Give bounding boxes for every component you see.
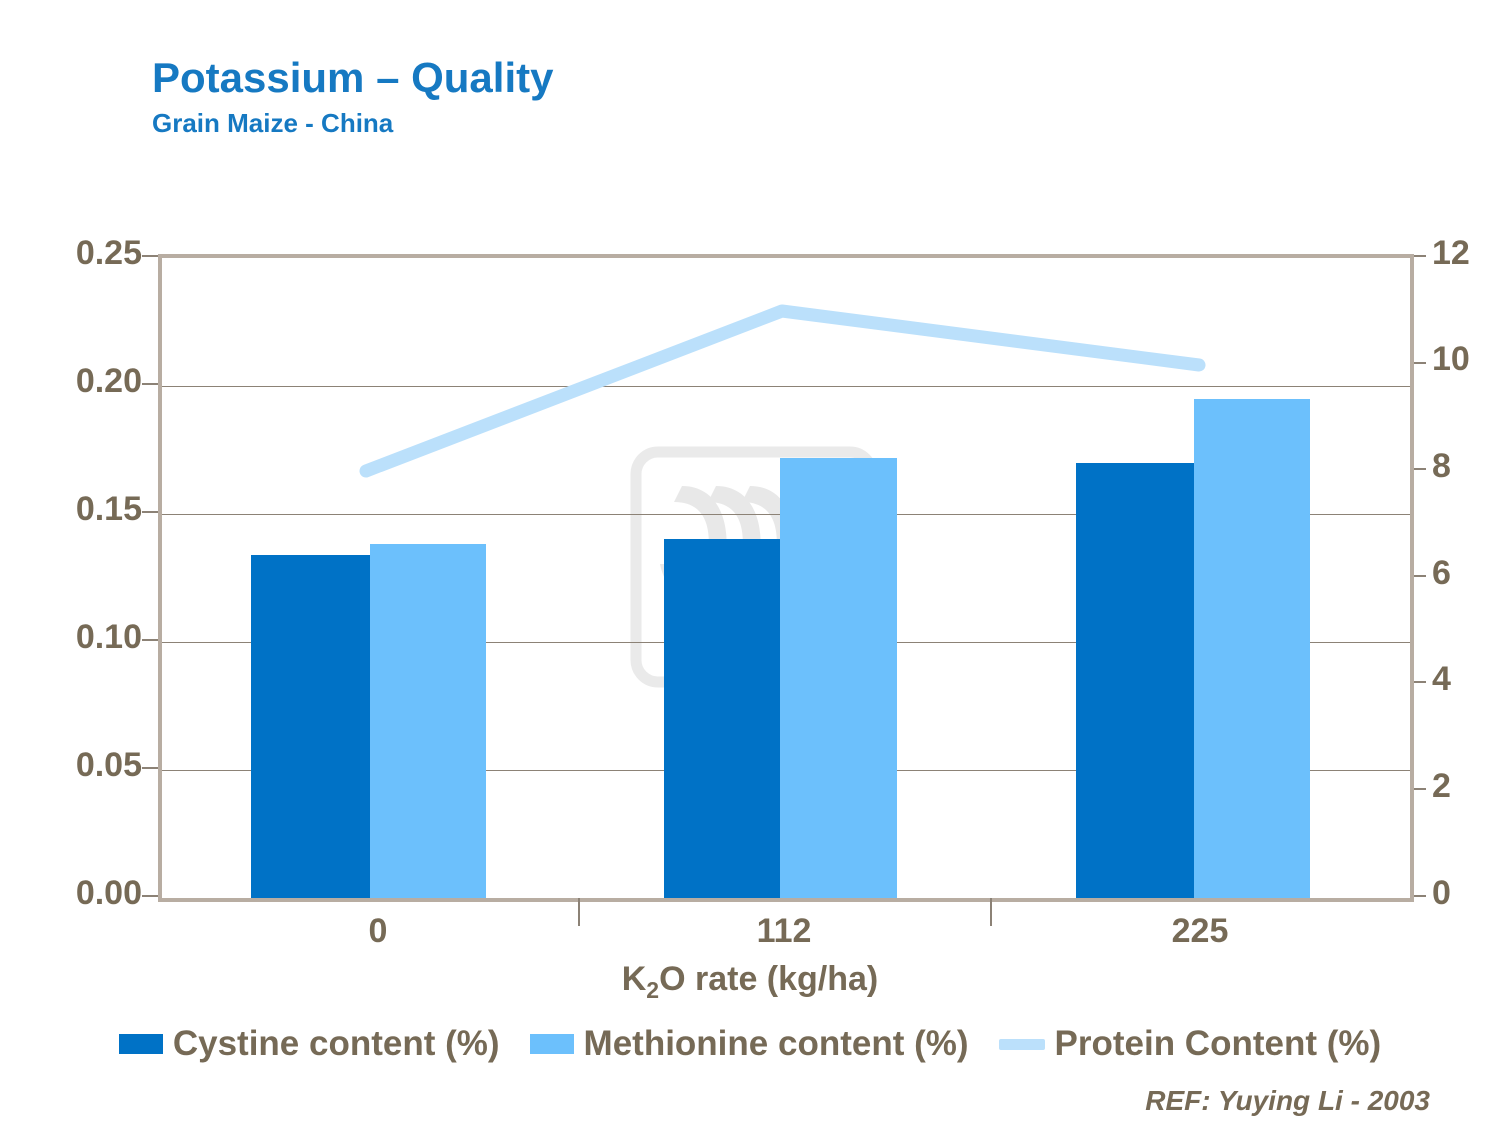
legend-label-methionine: Methionine content (%) [584, 1024, 969, 1064]
x-axis-tick-2: 225 [1110, 912, 1290, 951]
x-axis-title-pre: K [622, 960, 647, 998]
x-axis-tick-0: 0 [288, 912, 468, 951]
legend-swatch-icon [530, 1034, 574, 1054]
y-axis-left-tickmark [142, 639, 158, 641]
y-axis-left-tick-0: 0.25 [76, 234, 142, 273]
plot-area: YARA [158, 254, 1414, 902]
x-axis-category-separator [578, 898, 580, 926]
legend-item-cystine[interactable]: Cystine content (%) [119, 1024, 500, 1064]
y-axis-left-tick-5: 0.00 [76, 874, 142, 913]
legend-line-icon [999, 1039, 1045, 1050]
protein-content-line-series [162, 258, 1410, 898]
y-axis-left-tickmark [142, 255, 158, 257]
legend-label-cystine: Cystine content (%) [173, 1024, 500, 1064]
chart-canvas: 0.25 0.20 0.15 0.10 0.05 0.00 12 10 8 6 … [0, 0, 1500, 1126]
legend-label-protein: Protein Content (%) [1055, 1024, 1382, 1064]
legend-item-protein[interactable]: Protein Content (%) [999, 1024, 1382, 1064]
y-axis-left-tickmark [142, 895, 158, 897]
y-axis-right-tick-0: 12 [1432, 234, 1470, 273]
y-axis-left-tick-3: 0.10 [76, 618, 142, 657]
y-axis-left-tickmark [142, 383, 158, 385]
x-axis-tick-1: 112 [694, 912, 874, 951]
y-axis-left-tick-1: 0.20 [76, 362, 142, 401]
y-axis-right-tick-4: 4 [1432, 660, 1451, 699]
y-axis-right-tick-5: 2 [1432, 767, 1451, 806]
x-axis-title: K2O rate (kg/ha) [0, 960, 1500, 1004]
reference-note: REF: Yuying Li - 2003 [1145, 1085, 1430, 1117]
y-axis-right-tick-2: 8 [1432, 447, 1451, 486]
x-axis-title-post: O rate (kg/ha) [659, 960, 878, 998]
y-axis-left-tickmark [142, 511, 158, 513]
legend-item-methionine[interactable]: Methionine content (%) [530, 1024, 969, 1064]
y-axis-right-tick-6: 0 [1432, 874, 1451, 913]
y-axis-left-tick-4: 0.05 [76, 746, 142, 785]
x-axis-category-separator [990, 898, 992, 926]
y-axis-right-tick-3: 6 [1432, 554, 1451, 593]
x-axis-title-subscript: 2 [646, 977, 659, 1003]
y-axis-right-tick-1: 10 [1432, 340, 1470, 379]
y-axis-left-tick-2: 0.15 [76, 490, 142, 529]
chart-legend: Cystine content (%) Methionine content (… [0, 1024, 1500, 1064]
y-axis-left-tickmark [142, 767, 158, 769]
legend-swatch-icon [119, 1034, 163, 1054]
